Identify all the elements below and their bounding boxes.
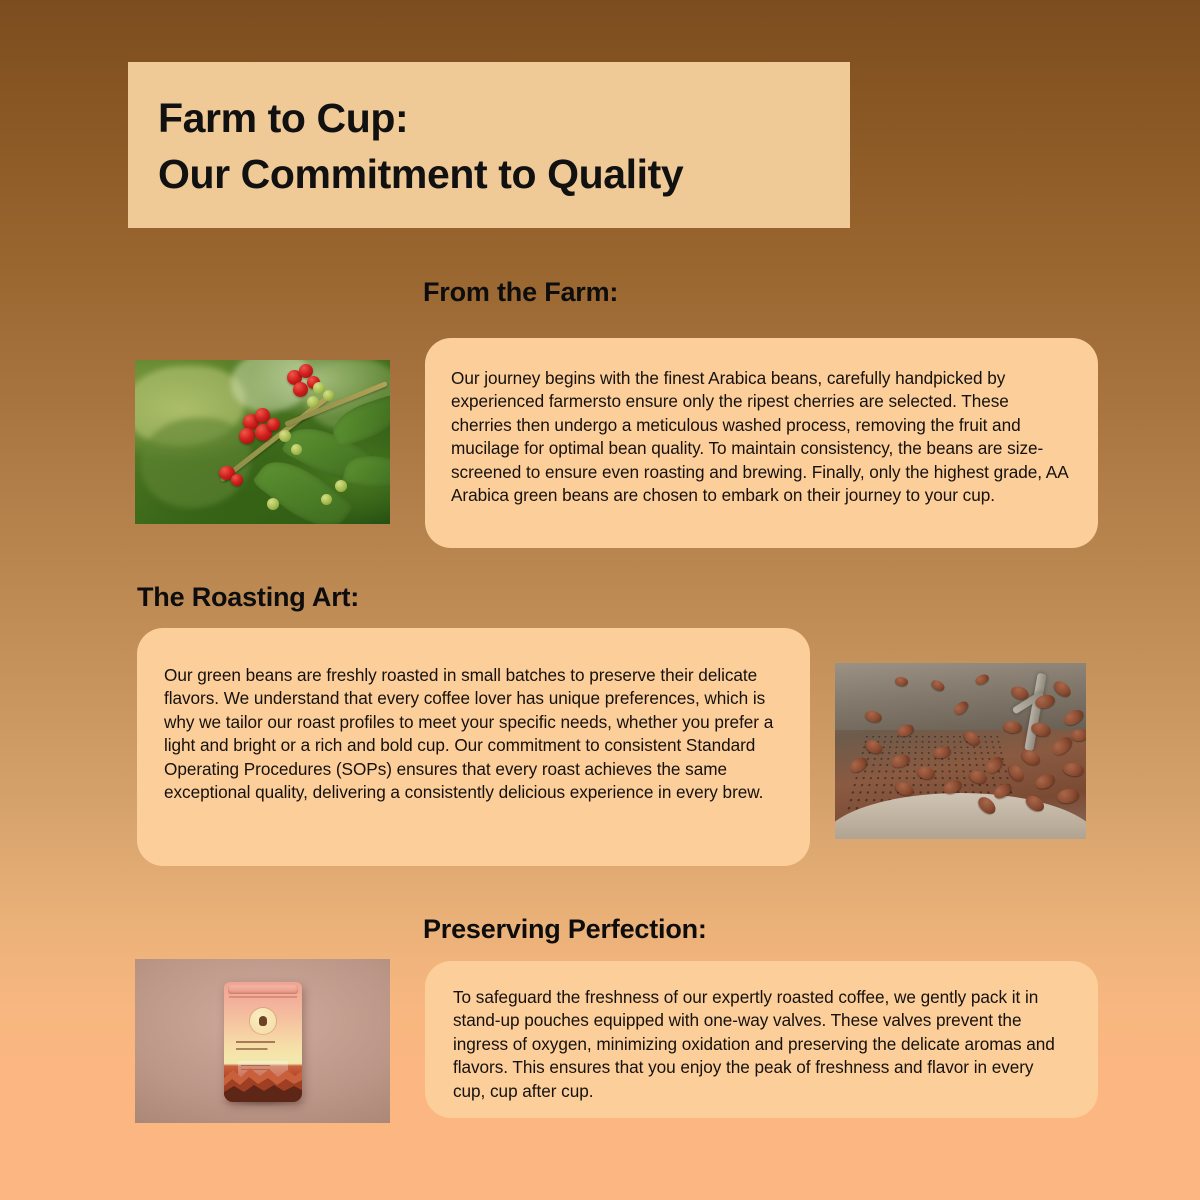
pouch-mountain-graphic bbox=[224, 1064, 302, 1102]
pouch-product-name-script bbox=[236, 1039, 290, 1055]
pouch-brand-logo-icon bbox=[250, 1008, 276, 1034]
section-heading-from-the-farm: From the Farm: bbox=[423, 277, 618, 308]
image-stand-up-coffee-pouch-packaging bbox=[135, 959, 390, 1123]
image-coffee-cherries-on-branch bbox=[135, 360, 390, 524]
coffee-cherry bbox=[267, 418, 280, 431]
coffee-cherry bbox=[231, 474, 243, 486]
coffee-pouch bbox=[224, 982, 302, 1102]
page-title-line-2: Our Commitment to Quality bbox=[158, 146, 850, 202]
infographic-page: Farm to Cup: Our Commitment to Quality F… bbox=[0, 0, 1200, 1200]
unripe-cherry bbox=[307, 396, 319, 408]
title-block: Farm to Cup: Our Commitment to Quality bbox=[128, 62, 850, 228]
card-from-the-farm: Our journey begins with the finest Arabi… bbox=[425, 338, 1098, 548]
unripe-cherry bbox=[335, 480, 347, 492]
card-preserving-perfection: To safeguard the freshness of our expert… bbox=[425, 961, 1098, 1118]
image-roasted-beans-in-cooling-tray bbox=[835, 663, 1086, 839]
coffee-cherry bbox=[239, 428, 255, 444]
unripe-cherry bbox=[279, 430, 291, 442]
unripe-cherry bbox=[291, 444, 302, 455]
unripe-cherry bbox=[323, 390, 334, 401]
card-the-roasting-art: Our green beans are freshly roasted in s… bbox=[137, 628, 810, 866]
section-heading-the-roasting-art: The Roasting Art: bbox=[137, 582, 359, 613]
unripe-cherry bbox=[267, 498, 279, 510]
section-heading-preserving-perfection: Preserving Perfection: bbox=[423, 914, 707, 945]
coffee-cherry bbox=[293, 382, 308, 397]
pouch-zip-top bbox=[228, 985, 298, 994]
body-text-from-the-farm: Our journey begins with the finest Arabi… bbox=[451, 367, 1068, 507]
body-text-the-roasting-art: Our green beans are freshly roasted in s… bbox=[164, 664, 774, 804]
page-title-line-1: Farm to Cup: bbox=[158, 90, 850, 146]
unripe-cherry bbox=[321, 494, 332, 505]
pouch-seal-line bbox=[229, 996, 297, 998]
body-text-preserving-perfection: To safeguard the freshness of our expert… bbox=[453, 986, 1068, 1103]
